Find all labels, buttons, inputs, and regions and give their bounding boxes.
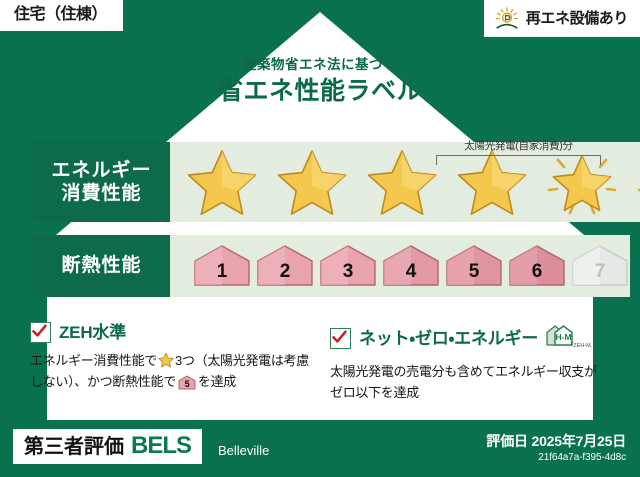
zeh-checkbox[interactable] bbox=[30, 322, 51, 343]
insulation-performance-label-box: 断熱性能 bbox=[33, 235, 170, 297]
criteria-zeh-body: エネルギー消費性能で3つ（太陽光発電は考慮しない）、かつ断熱性能で5を達成 bbox=[30, 350, 313, 392]
star-6-solar bbox=[628, 146, 640, 218]
criteria-zeh-text-3: を達成 bbox=[198, 374, 236, 389]
energy-label-line1: エネルギー bbox=[51, 159, 151, 182]
insulation-level-scale: 1 2 3 bbox=[192, 244, 630, 288]
insulation-level-7: 7 bbox=[570, 244, 630, 288]
svg-text:『ZEH-M』: 『ZEH-M』 bbox=[568, 341, 592, 349]
star-2 bbox=[268, 146, 356, 218]
star-1 bbox=[178, 146, 266, 218]
insulation-levels-area: 1 2 3 bbox=[170, 235, 630, 297]
insulation-label-text: 断熱性能 bbox=[61, 254, 141, 277]
bels-logo-text: BELS bbox=[131, 434, 191, 458]
insulation-level-1: 1 bbox=[192, 244, 252, 288]
evaluation-id: 21f64a7a-f395-4d8c bbox=[486, 453, 626, 463]
dwelling-type-tag: 住宅（住棟） bbox=[0, 0, 123, 31]
energy-performance-row: エネルギー 消費性能 bbox=[33, 142, 607, 222]
label-footer: 第三者評価 BELS Belleville 評価日 2025年7月25日 21f… bbox=[0, 420, 640, 477]
insulation-level-3: 3 bbox=[318, 244, 378, 288]
star-3 bbox=[358, 146, 446, 218]
criteria-zeh: ZEH水準 エネルギー消費性能で3つ（太陽光発電は考慮しない）、かつ断熱性能で5… bbox=[30, 322, 313, 392]
title-subtitle: 建築物省エネ法に基づく bbox=[0, 58, 640, 72]
zeh-m-house-icon: H-M 『ZEH-M』 bbox=[544, 322, 592, 354]
criteria-zeh-text-1: エネルギー消費性能で bbox=[30, 353, 157, 368]
title-main: 省エネ性能ラベル bbox=[0, 79, 640, 104]
star-icon bbox=[158, 352, 174, 368]
star-rating bbox=[178, 146, 640, 218]
insulation-level-4: 4 bbox=[381, 244, 441, 288]
criteria-nze-header: ネット・ゼロ・エネルギー H-M 『ZEH-M』 bbox=[330, 322, 600, 354]
renewable-badge-label: 再エネ設備あり bbox=[526, 11, 628, 26]
insulation-level-5: 5 bbox=[444, 244, 504, 288]
insulation-level-icon: 5 bbox=[178, 375, 196, 390]
energy-stars-area bbox=[170, 142, 640, 222]
insulation-level-3-number: 3 bbox=[343, 262, 354, 288]
criteria-nze-body: 太陽光発電の売電分も含めてエネルギー収支がゼロ以下を達成 bbox=[330, 361, 600, 403]
brand-name: Belleville bbox=[218, 444, 269, 457]
svg-text:H-M: H-M bbox=[556, 332, 572, 342]
sun-icon bbox=[494, 7, 520, 31]
energy-label-line2: 消費性能 bbox=[61, 182, 141, 205]
star-4 bbox=[448, 146, 536, 218]
insulation-level-2-number: 2 bbox=[280, 262, 291, 288]
insulation-level-4-number: 4 bbox=[406, 262, 417, 288]
insulation-level-7-number: 7 bbox=[595, 262, 606, 288]
svg-text:5: 5 bbox=[185, 379, 190, 389]
third-party-eval-label: 第三者評価 bbox=[24, 437, 124, 457]
insulation-level-6-number: 6 bbox=[532, 262, 543, 288]
evaluation-info: 評価日 2025年7月25日 21f64a7a-f395-4d8c bbox=[486, 434, 626, 463]
label-title: 建築物省エネ法に基づく 省エネ性能ラベル bbox=[0, 58, 640, 104]
criteria-zeh-title: ZEH水準 bbox=[59, 324, 126, 341]
criteria-net-zero-energy: ネット・ゼロ・エネルギー H-M 『ZEH-M』 太陽光発電の売電分も含めてエネ… bbox=[330, 322, 600, 403]
check-icon bbox=[332, 330, 347, 345]
criteria-zeh-header: ZEH水準 bbox=[30, 322, 313, 343]
energy-performance-label: 住宅（住棟） 再エネ設備あり 建築物省エネ法に基づく 省エネ性能ラベル エネルギ… bbox=[0, 0, 640, 477]
insulation-level-5-number: 5 bbox=[469, 262, 480, 288]
renewable-equipment-badge: 再エネ設備あり bbox=[484, 0, 640, 37]
check-icon bbox=[32, 324, 47, 339]
evaluation-date: 評価日 2025年7月25日 bbox=[486, 434, 626, 448]
net-zero-energy-checkbox[interactable] bbox=[330, 328, 351, 349]
star-5-solar bbox=[538, 146, 626, 218]
insulation-level-6: 6 bbox=[507, 244, 567, 288]
bels-plate: 第三者評価 BELS bbox=[13, 429, 202, 464]
energy-performance-label-box: エネルギー 消費性能 bbox=[33, 142, 170, 222]
insulation-level-2: 2 bbox=[255, 244, 315, 288]
insulation-performance-row: 断熱性能 1 2 bbox=[33, 235, 607, 297]
insulation-level-1-number: 1 bbox=[217, 262, 228, 288]
criteria-nze-title: ネット・ゼロ・エネルギー bbox=[359, 330, 538, 347]
